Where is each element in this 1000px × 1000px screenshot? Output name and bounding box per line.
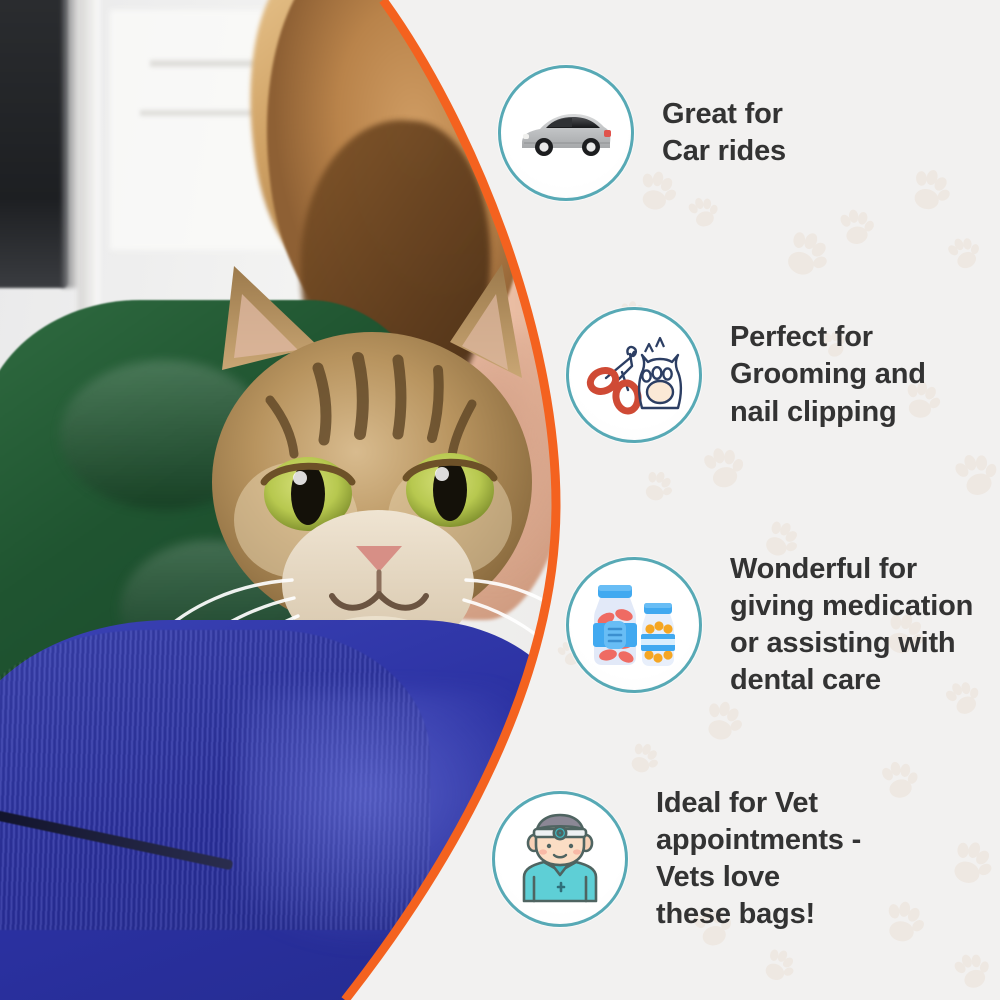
feature-icon-circle [498,65,634,201]
feature-label: Perfect for Grooming and nail clipping [730,319,926,430]
feature-item-grooming[interactable]: Perfect for Grooming and nail clipping [566,307,926,443]
pill-bottles-icon [582,579,686,671]
feature-item-vet[interactable]: Ideal for Vet appointments - Vets love t… [492,785,861,933]
photo-monitor [0,0,68,288]
feature-item-medication[interactable]: Wonderful for giving medication or assis… [566,551,973,699]
feature-label: Ideal for Vet appointments - Vets love t… [656,785,861,933]
feature-label: Great for Car rides [662,96,786,170]
feature-icon-circle [566,557,702,693]
feature-label: Wonderful for giving medication or assis… [730,551,973,699]
feature-item-car-rides[interactable]: Great for Car rides [498,65,786,201]
feature-icon-circle [492,791,628,927]
feature-list: Great for Car rides [470,0,1000,1000]
veterinarian-icon [514,813,606,905]
car-icon [518,103,614,163]
feature-icon-circle [566,307,702,443]
photo-monitor-edge [62,0,78,288]
product-feature-graphic: Great for Car rides [0,0,1000,1000]
nail-clippers-paw-icon [584,332,684,418]
